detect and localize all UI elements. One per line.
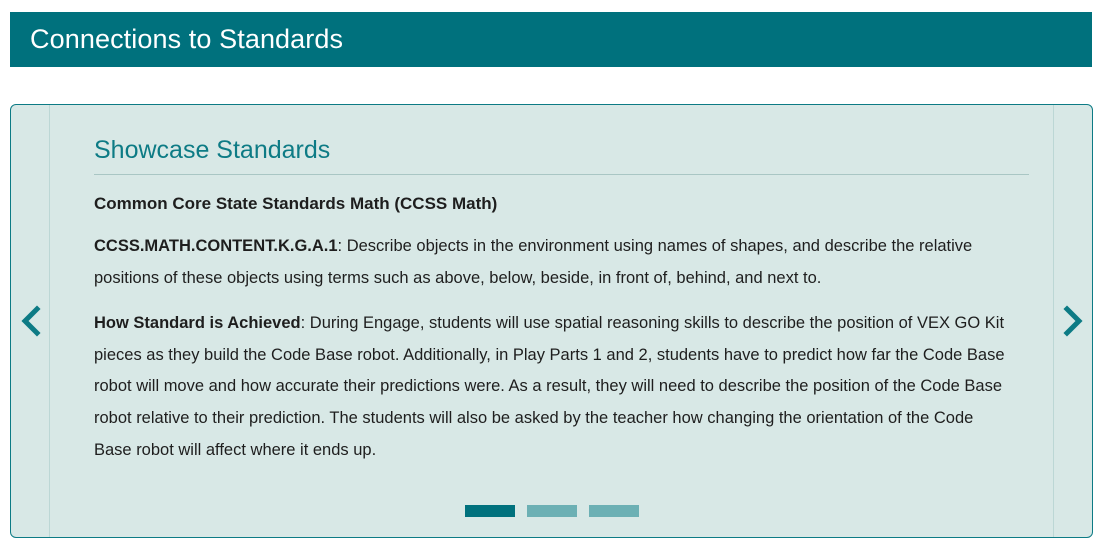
pagination-dot-3[interactable] [589, 505, 639, 517]
carousel-pagination [11, 505, 1092, 517]
carousel-next-button[interactable] [1053, 105, 1092, 537]
carousel-slide: Showcase Standards Common Core State Sta… [50, 105, 1053, 537]
chevron-right-icon [1062, 305, 1084, 337]
standard-code: CCSS.MATH.CONTENT.K.G.A.1 [94, 237, 338, 255]
slide-heading: Showcase Standards [94, 135, 1013, 165]
achieved-text: : During Engage, students will use spati… [94, 314, 1005, 459]
standard-achievement: How Standard is Achieved: During Engage,… [94, 308, 1013, 467]
standard-family-label: Common Core State Standards Math (CCSS M… [94, 193, 1013, 215]
chevron-left-icon [19, 305, 41, 337]
page-header: Connections to Standards [10, 12, 1092, 67]
achieved-label: How Standard is Achieved [94, 314, 301, 332]
page-root: Connections to Standards Showcase Standa… [0, 0, 1104, 548]
page-title: Connections to Standards [30, 26, 343, 53]
carousel-prev-button[interactable] [11, 105, 50, 537]
heading-divider [94, 174, 1029, 175]
pagination-dot-2[interactable] [527, 505, 577, 517]
standard-description: CCSS.MATH.CONTENT.K.G.A.1: Describe obje… [94, 231, 1013, 295]
pagination-dot-1[interactable] [465, 505, 515, 517]
standards-carousel: Showcase Standards Common Core State Sta… [10, 104, 1093, 538]
